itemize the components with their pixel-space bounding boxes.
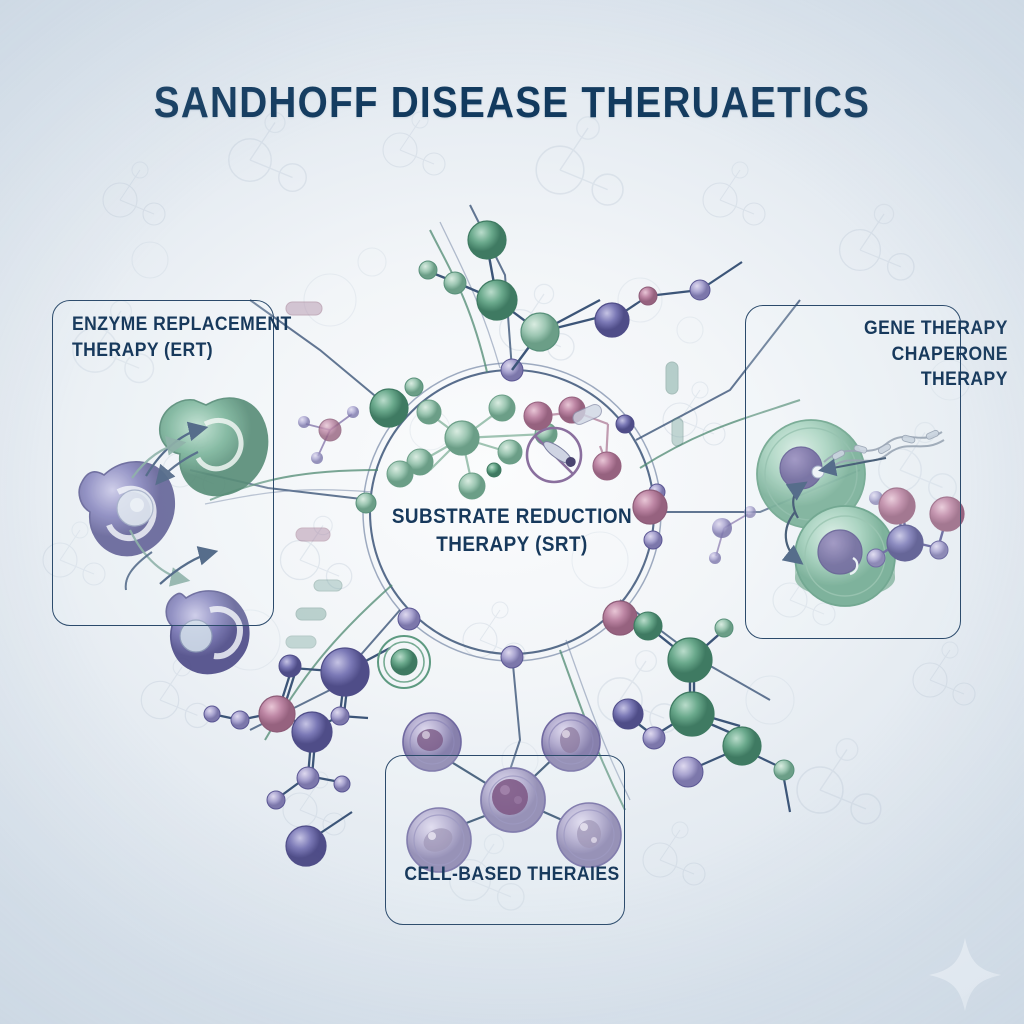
poster-canvas: ENZYME REPLACEMENT THERAPY (ERT) GENE TH… [0,0,1024,1024]
sparkle-icon [0,0,1024,1024]
